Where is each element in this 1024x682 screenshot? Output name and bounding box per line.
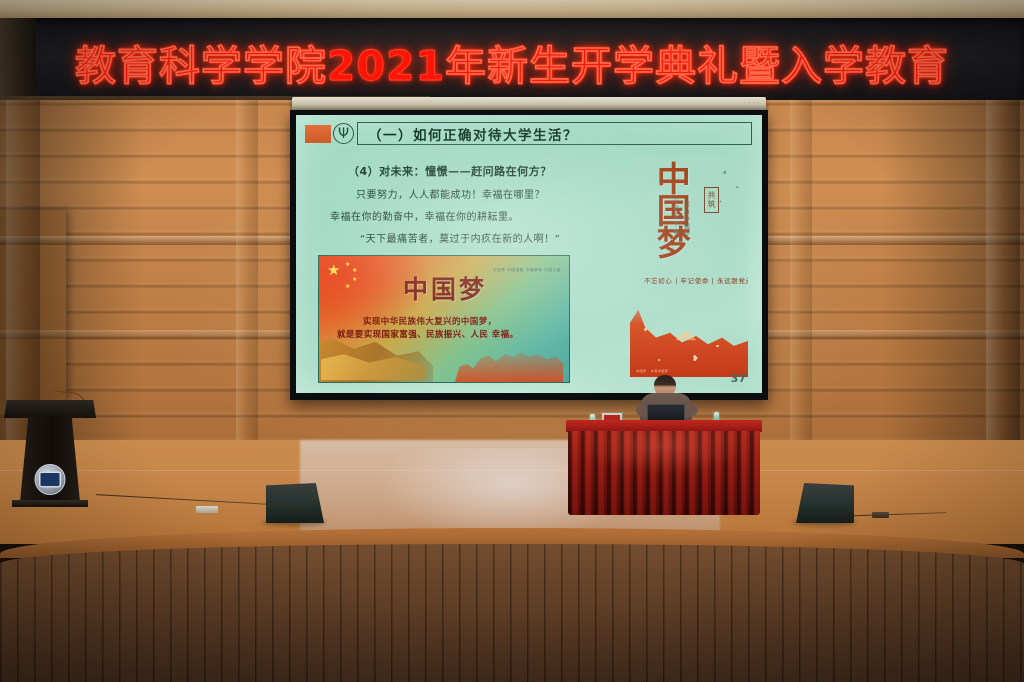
presenter-table	[566, 420, 762, 515]
poster-right-vertical-sub: 心怀天下事	[670, 197, 680, 237]
poster-left-text: 实现中华民族伟大复兴的中国梦， 就是要实现国家富强、民族振兴、人民 幸福。	[337, 316, 561, 342]
poster-left-text-line-1: 实现中华民族伟大复兴的中国梦，	[337, 316, 561, 329]
slide-poster-right: 中国梦 共筑 心怀天下事 我为中国梦 ✦ ✦ ✦ 不忘初心 | 牢记使命 | 永…	[630, 155, 748, 377]
university-crest-icon	[35, 464, 66, 495]
monitor-left-box	[266, 483, 324, 523]
poster-left-caption: 中国梦 中国道路 中国精神 中国力量	[493, 268, 561, 273]
spark-2	[658, 359, 660, 361]
spark-1	[644, 328, 647, 331]
slide-body-line-3: 幸福在你的勤奋中，幸福在你的耕耘里。	[326, 208, 626, 223]
stage-floor-seam	[0, 470, 1024, 471]
flag-star-3: ★	[352, 277, 357, 283]
cable-connector-left	[196, 506, 218, 513]
monitor-right-box	[796, 483, 854, 523]
ceremony-banner: 教育科学学院2021年新生开学典礼暨入学教育	[0, 18, 1024, 106]
psi-icon: Ψ	[333, 123, 354, 144]
screen-housing-bar: · · · ·	[292, 97, 766, 110]
flag-star-large: ★	[327, 263, 340, 278]
table-red-skirt	[568, 431, 760, 515]
slide-accent-block	[305, 125, 331, 143]
lectern-top	[4, 400, 96, 418]
housing-label: · · · ·	[744, 100, 760, 105]
lectern	[4, 392, 96, 510]
slide-poster-left: ★ ★ ★ ★ ★ 中国梦 中国梦 中国道路 中国精神 中国力量 实现中华民族伟…	[318, 255, 570, 383]
poster-right-badge: 共筑	[704, 187, 719, 213]
spark-3	[716, 345, 719, 348]
slide-title-box: （一）如何正确对待大学生活？	[357, 122, 752, 145]
crest-inner	[41, 473, 60, 486]
dove-icon: ❥	[692, 354, 699, 363]
lectern-body	[20, 416, 80, 502]
stage-monitor-right	[796, 483, 854, 523]
china-flag-icon: ★ ★ ★ ★ ★	[325, 261, 379, 295]
poster-right-slogan: 不忘初心 | 牢记使命 | 永远跟党走	[644, 275, 740, 285]
slide-title: （一）如何正确对待大学生活？	[368, 124, 578, 144]
poster-left-text-line-2: 就是要实现国家富强、民族振兴、人民	[337, 330, 488, 340]
people-silhouette-graphic	[455, 342, 563, 382]
flag-star-1: ★	[345, 262, 350, 268]
bird-icon-2: ✦	[734, 185, 739, 192]
banner-title-text: 教育科学学院2021年新生开学典礼暨入学教育	[17, 32, 1007, 92]
poster-left-text-line-3: 幸福。	[492, 330, 519, 340]
projection-screen: Ψ （一）如何正确对待大学生活？ （4）对未来：憧憬——赶问路在何方？ 只要努力…	[290, 110, 768, 400]
slide-page-number: 37	[731, 372, 746, 385]
lectern-base	[12, 500, 88, 507]
slide-body-line-4: “天下最痛苦者，莫过于内疚在新的人啊！”	[326, 230, 626, 245]
audience-area: 幼 师 学 前 应 心 教 技 小 教 心 理 特 教 应 用	[0, 544, 1024, 682]
cable-connector-right	[872, 512, 889, 518]
bird-icon-1: ✦	[721, 168, 729, 177]
slide-body-line-1: （4）对未来：憧憬——赶问路在何方？	[326, 163, 626, 179]
auditorium-photo: 教育科学学院2021年新生开学典礼暨入学教育 · · · · Ψ （一）如何正确…	[0, 0, 1024, 682]
bird-icon-3: ✦	[719, 199, 722, 204]
poster-right-footer: 中国梦 · 共筑中国梦	[636, 369, 668, 373]
slide-body-line-2: 只要努力，人人都能成功！幸福在哪里？	[326, 186, 626, 201]
presentation-slide: Ψ （一）如何正确对待大学生活？ （4）对未来：憧憬——赶问路在何方？ 只要努力…	[296, 115, 762, 393]
poster-left-title: 中国梦	[403, 270, 487, 306]
slide-body-text: （4）对未来：憧憬——赶问路在何方？ 只要努力，人人都能成功！幸福在哪里？ 幸福…	[326, 163, 626, 252]
poster-right-vertical-sub2: 我为中国梦	[682, 201, 690, 239]
flag-star-4: ★	[345, 284, 350, 290]
stage-monitor-left	[266, 483, 324, 523]
flag-star-2: ★	[352, 268, 357, 274]
